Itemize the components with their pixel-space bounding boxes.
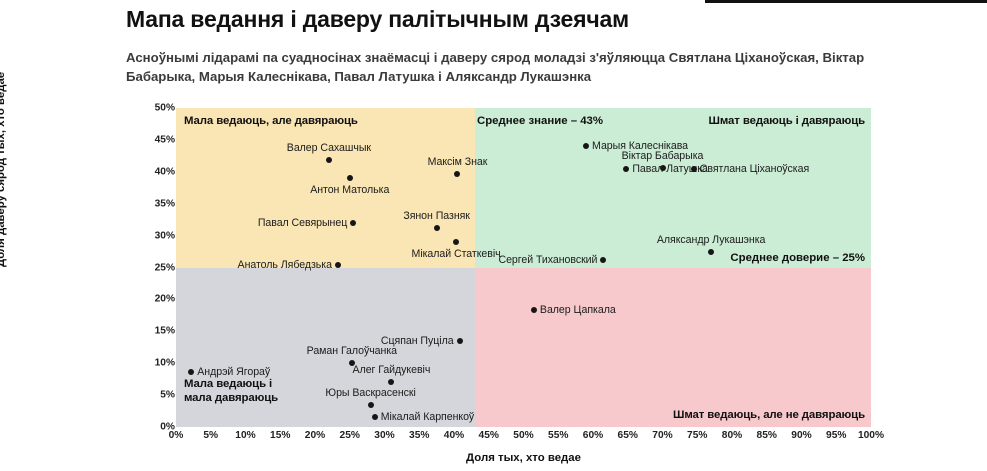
chart-page: Мапа ведання і даверу палітычным дзеячам… [0,0,987,471]
x-axis-title: Доля тых, хто ведае [176,452,871,464]
x-tick-15pct: 15% [270,430,290,441]
page-subtitle: Асноўнымі лідарамі па суадносінах знаёма… [126,48,916,86]
x-tick-0pct: 0% [169,430,184,441]
data-point[interactable] [708,249,714,255]
data-point-label: Зянон Пазняк [403,210,470,222]
data-point[interactable] [326,157,332,163]
data-point-label: Анатоль Лябедзька [238,259,332,271]
data-point[interactable] [453,239,459,245]
x-tick-60pct: 60% [583,430,603,441]
y-tick-20pct: 20% [155,294,175,305]
data-point-label: Сергей Тихановский [498,254,597,266]
data-point[interactable] [434,225,440,231]
y-tick-35pct: 35% [155,198,175,209]
x-tick-65pct: 65% [618,430,638,441]
data-point-label: Алег Гайдукевіч [353,364,431,376]
x-tick-85pct: 85% [757,430,777,441]
y-axis-title: Доля даверу сярод тых, хто ведае [0,72,7,267]
x-tick-95pct: 95% [826,430,846,441]
data-point-label: Мікалай Карпенкоў [381,411,474,423]
x-tick-70pct: 70% [652,430,672,441]
y-tick-50pct: 50% [155,103,175,114]
data-point[interactable] [623,166,629,172]
x-tick-10pct: 10% [235,430,255,441]
y-tick-40pct: 40% [155,166,175,177]
x-tick-25pct: 25% [340,430,360,441]
data-point[interactable] [583,143,589,149]
quadrant-label-top-right: Шмат ведаюць і давяраюць [709,115,865,127]
header-rule [705,0,987,3]
data-point-label: Павал Севярынец [258,217,347,229]
x-tick-75pct: 75% [687,430,707,441]
x-axis-ticks: 0%5%10%15%20%25%30%35%40%45%50%55%60%65%… [176,430,871,444]
y-tick-15pct: 15% [155,326,175,337]
data-point-label: Святлана Ціханоўская [700,163,809,175]
x-tick-30pct: 30% [374,430,394,441]
data-point[interactable] [457,338,463,344]
data-point-label: Раман Галоўчанка [307,345,397,357]
x-tick-100pct: 100% [858,430,884,441]
data-point[interactable] [454,171,460,177]
data-point[interactable] [350,220,356,226]
y-tick-10pct: 10% [155,358,175,369]
average-trust-label: Среднее доверие – 25% [730,252,865,264]
scatter-plot-area: Мала ведаюць, але давяраюць Шмат ведаюць… [176,108,871,427]
y-tick-25pct: 25% [155,262,175,273]
average-knowledge-label: Среднее знание – 43% [477,115,603,127]
quadrant-bottom-right [475,268,871,428]
x-tick-35pct: 35% [409,430,429,441]
data-point-label: Мікалай Статкевіч [412,248,501,260]
data-point-label: Віктар Бабарыка [622,150,704,162]
x-tick-55pct: 55% [548,430,568,441]
data-point[interactable] [347,175,353,181]
data-point[interactable] [691,166,697,172]
x-tick-5pct: 5% [203,430,218,441]
y-axis-ticks: 0%5%10%15%20%25%30%35%40%45%50% [141,108,175,427]
data-point-label: Аляксандр Лукашэнка [657,234,766,246]
quadrant-label-bottom-left: Мала ведаюць імала давяраюць [184,377,278,406]
data-point[interactable] [388,379,394,385]
data-point[interactable] [368,402,374,408]
data-point[interactable] [600,257,606,263]
x-tick-90pct: 90% [791,430,811,441]
x-tick-50pct: 50% [513,430,533,441]
x-tick-80pct: 80% [722,430,742,441]
data-point-label: Максім Знак [428,156,488,168]
data-point-label: Валер Сахашчык [287,142,371,154]
data-point[interactable] [372,414,378,420]
y-tick-30pct: 30% [155,230,175,241]
y-tick-5pct: 5% [160,390,175,401]
data-point[interactable] [335,262,341,268]
data-point[interactable] [188,369,194,375]
x-tick-40pct: 40% [444,430,464,441]
data-point-label: Андрэй Ягораў [197,366,270,378]
quadrant-label-bottom-left-line-1: Мала ведаюць і [184,377,278,391]
quadrant-label-bottom-right: Шмат ведаюць, але не давяраюць [673,409,865,421]
data-point-label: Валер Цапкала [540,304,616,316]
data-point[interactable] [531,307,537,313]
data-point-label: Юры Васкрасенскі [325,387,415,399]
y-tick-45pct: 45% [155,134,175,145]
x-tick-20pct: 20% [305,430,325,441]
data-point-label: Антон Матолька [310,184,389,196]
quadrant-label-top-left: Мала ведаюць, але давяраюць [184,115,358,127]
quadrant-label-bottom-left-line-2: мала давяраюць [184,391,278,405]
page-title: Мапа ведання і даверу палітычным дзеячам [126,6,906,32]
x-tick-45pct: 45% [479,430,499,441]
